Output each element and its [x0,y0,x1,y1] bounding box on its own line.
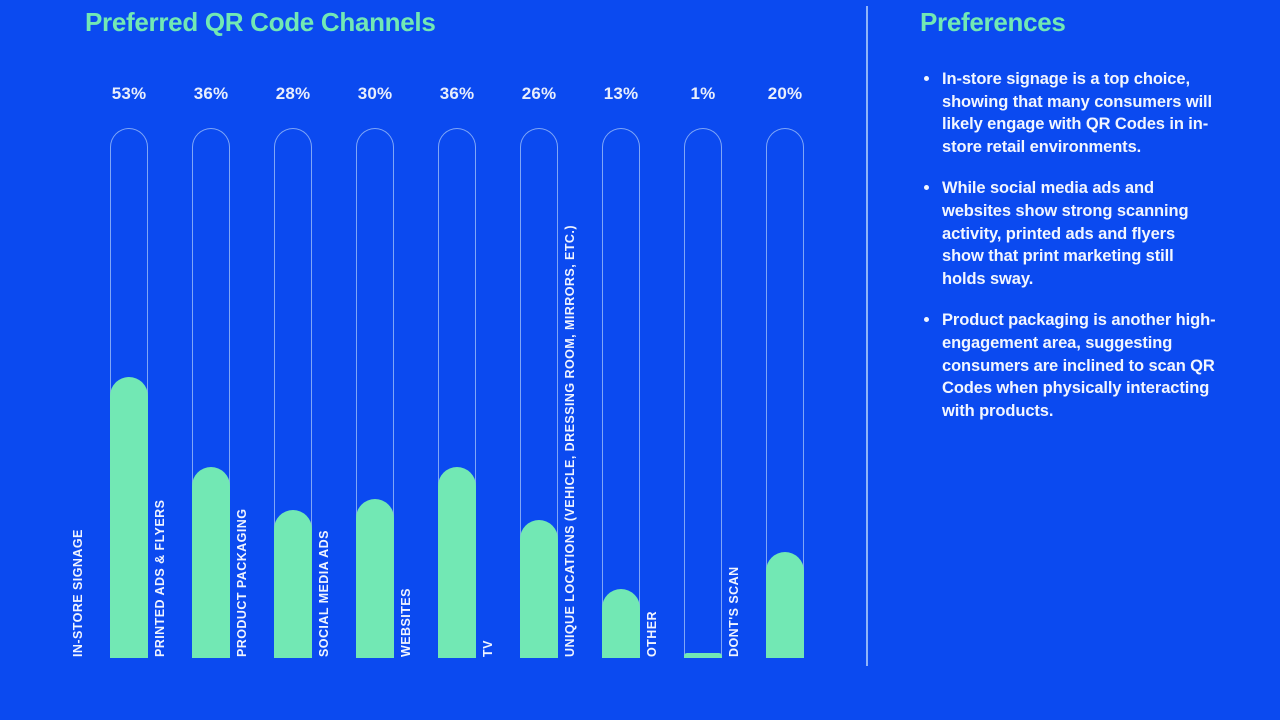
bar-value-label: 36% [170,84,252,104]
preference-bullet-text: Product packaging is another high-engage… [942,311,1215,419]
bar-value-label: 1% [662,84,744,104]
bar-value-label: 13% [580,84,662,104]
bar-fill[interactable] [602,589,640,658]
bar-category-label: IN-STORE SIGNAGE [68,637,88,657]
bar-category-label: OTHER [642,637,662,657]
preference-bullet-text: In-store signage is a top choice, showin… [942,70,1212,156]
bar-fill[interactable] [438,467,476,658]
bullet-dot-icon [924,317,929,322]
bar-value-label: 28% [252,84,334,104]
bar-chart-plot: 53%IN-STORE SIGNAGE36%PRINTED ADS & FLYE… [0,0,866,720]
bar-category-label: PRODUCT PACKAGING [232,637,252,657]
bar-fill[interactable] [356,499,394,658]
preferences-list: In-store signage is a top choice, showin… [920,68,1220,441]
bar-fill[interactable] [766,552,804,658]
bar-column: 20%DONT'S SCAN [744,0,826,720]
bar-fill[interactable] [110,377,148,658]
bar-category-label: UNIQUE LOCATIONS (VEHICLE, DRESSING ROOM… [560,637,580,657]
bar-category-label: DONT'S SCAN [724,637,744,657]
bar-fill[interactable] [192,467,230,658]
preference-bullet-item: While social media ads and websites show… [920,177,1220,290]
bar-category-label: SOCIAL MEDIA ADS [314,637,334,657]
bar-fill[interactable] [520,520,558,658]
slide-root: Preferred QR Code Channels 53%IN-STORE S… [0,0,1280,720]
bullet-dot-icon [924,185,929,190]
chart-panel: Preferred QR Code Channels 53%IN-STORE S… [0,0,866,720]
bar-category-label: PRINTED ADS & FLYERS [150,637,170,657]
preferences-title: Preferences [920,7,1066,38]
bar-category-label: WEBSITES [396,637,416,657]
bar-value-label: 20% [744,84,826,104]
bar-value-label: 30% [334,84,416,104]
bar-value-label: 53% [88,84,170,104]
preference-bullet-item: Product packaging is another high-engage… [920,309,1220,422]
bar-track [684,128,722,658]
preference-bullet-text: While social media ads and websites show… [942,179,1188,287]
bar-category-label: TV [478,637,498,657]
preferences-panel: Preferences In-store signage is a top ch… [920,0,1220,720]
bar-track [602,128,640,658]
panel-divider [866,6,868,666]
bar-fill[interactable] [684,653,722,658]
preference-bullet-item: In-store signage is a top choice, showin… [920,68,1220,158]
bullet-dot-icon [924,76,929,81]
bar-value-label: 36% [416,84,498,104]
bar-column: 36%WEBSITES [416,0,498,720]
bar-value-label: 26% [498,84,580,104]
bar-fill[interactable] [274,510,312,658]
